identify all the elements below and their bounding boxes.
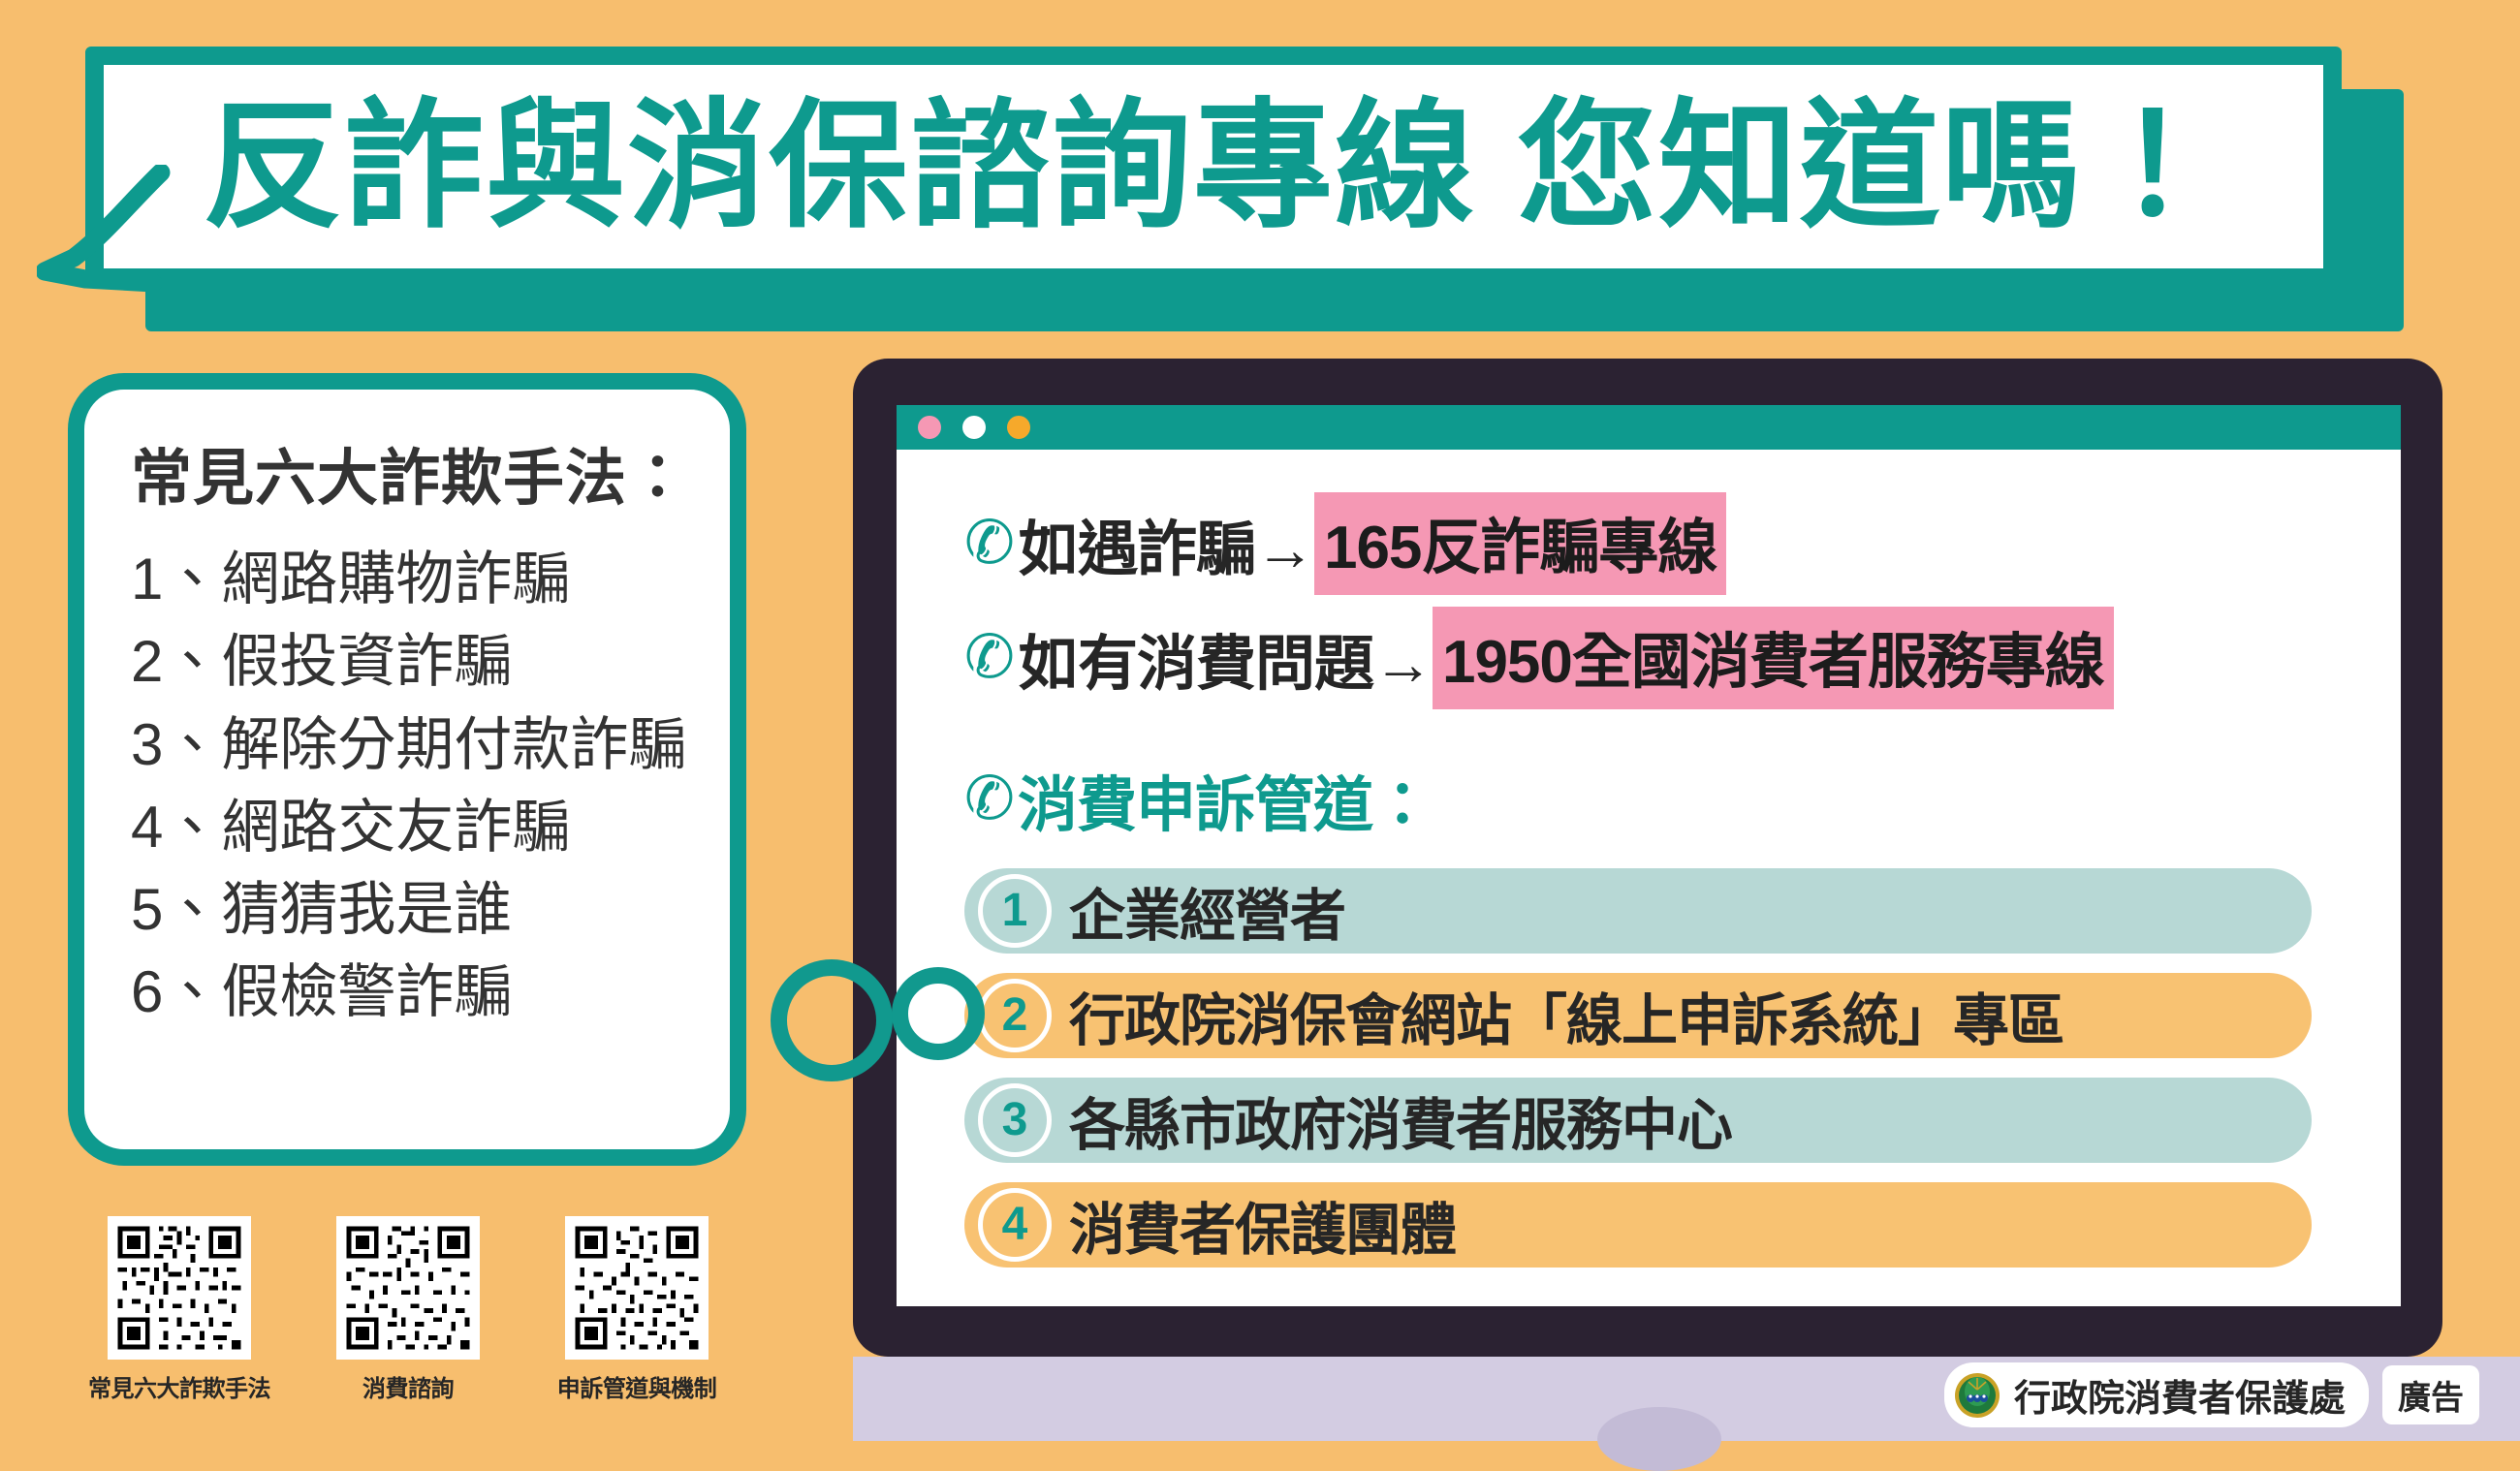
qr-caption: 常見六大詐欺手法 [88,1369,270,1403]
channel-label: 各縣市政府消費者服務中心 [1069,1080,1732,1161]
ad-badge: 廣告 [2382,1365,2479,1424]
hotline-row-consumer: ✆ 如有消費問題→ 1950全國消費者服務專線 [964,607,2401,709]
maximize-dot-icon[interactable] [1007,416,1030,439]
title-banner: 反詐與消保諮詢專線 您知道嗎！ [85,47,2342,287]
page-title: 反詐與消保諮詢專線 您知道嗎！ [104,97,2323,236]
list-item: 5、猜猜我是誰 [131,868,730,951]
list-item: 3、解除分期付款詐騙 [131,704,730,786]
list-item: 6、假檢警詐騙 [131,951,730,1033]
decorative-ring-small-icon [892,967,985,1060]
decorative-ring-large-icon [771,959,893,1081]
channel-number-badge: 3 [978,1083,1052,1157]
qr-item[interactable]: 消費諮詢 [326,1216,490,1420]
browser-window: ✆ 如遇詐騙→ 165反詐騙專線 ✆ 如有消費問題→ 1950全國消費者服務專線… [897,405,2401,1306]
government-emblem-icon [1954,1372,2000,1419]
fraud-methods-heading: 常見六大詐欺手法： [131,446,730,513]
complaint-channels-heading-label: 消費申訴管道： [1018,756,1432,843]
hotline-number-badge: 165反詐騙專線 [1314,492,1726,595]
poster-root: 反詐與消保諮詢專線 您知道嗎！ 常見六大詐欺手法： 1、網路購物詐騙 2、假投資… [0,0,2520,1441]
qr-code-icon[interactable] [336,1216,480,1360]
close-dot-icon[interactable] [918,416,941,439]
channel-number-badge: 2 [978,979,1052,1052]
telephone-icon: ✆ [964,514,1015,574]
qr-caption: 申訴管道與機制 [557,1369,717,1403]
speech-bubble-tail-icon [37,165,192,310]
organization-name: 行政院消費者保護處 [2014,1368,2346,1422]
channel-label: 消費者保護團體 [1069,1184,1456,1266]
qr-code-icon[interactable] [565,1216,709,1360]
footer: 行政院消費者保護處 廣告 [1944,1362,2479,1427]
list-item: 2、假投資詐騙 [131,620,730,703]
channel-number-badge: 4 [978,1188,1052,1262]
hotline-label: 如遇詐騙→ [1019,500,1314,587]
browser-content: ✆ 如遇詐騙→ 165反詐騙專線 ✆ 如有消費問題→ 1950全國消費者服務專線… [897,450,2401,1268]
channel-item-3[interactable]: 3 各縣市政府消費者服務中心 [964,1078,2312,1163]
list-item: 4、網路交友詐騙 [131,786,730,868]
minimize-dot-icon[interactable] [962,416,986,439]
qr-code-strip: 常見六大詐欺手法 [97,1216,756,1420]
qr-caption: 消費諮詢 [362,1369,454,1403]
channel-item-4[interactable]: 4 消費者保護團體 [964,1182,2312,1268]
channel-number-badge: 1 [978,874,1052,948]
channel-item-1[interactable]: 1 企業經營者 [964,868,2312,954]
qr-code-icon[interactable] [108,1216,251,1360]
qr-item[interactable]: 常見六大詐欺手法 [97,1216,262,1420]
hotline-row-fraud: ✆ 如遇詐騙→ 165反詐騙專線 [964,492,2401,595]
hotline-number-badge: 1950全國消費者服務專線 [1433,607,2114,709]
channel-item-2[interactable]: 2 行政院消保會網站「線上申訴系統」專區 [964,973,2312,1058]
laptop-base-notch [1597,1407,1721,1471]
channel-label: 行政院消保會網站「線上申訴系統」專區 [1069,975,2063,1056]
browser-title-bar [897,405,2401,450]
channel-label: 企業經營者 [1069,870,1345,952]
telephone-icon: ✆ [964,628,1015,688]
telephone-icon: ✆ [964,769,1014,829]
qr-item[interactable]: 申訴管道與機制 [554,1216,719,1420]
complaint-channels-heading: ✆ 消費申訴管道： [964,756,2401,843]
hotline-label: 如有消費問題→ [1019,614,1433,702]
list-item: 1、網路購物詐騙 [131,538,730,620]
organization-chip: 行政院消費者保護處 [1944,1362,2369,1427]
fraud-methods-card: 常見六大詐欺手法： 1、網路購物詐騙 2、假投資詐騙 3、解除分期付款詐騙 4、… [68,373,746,1166]
